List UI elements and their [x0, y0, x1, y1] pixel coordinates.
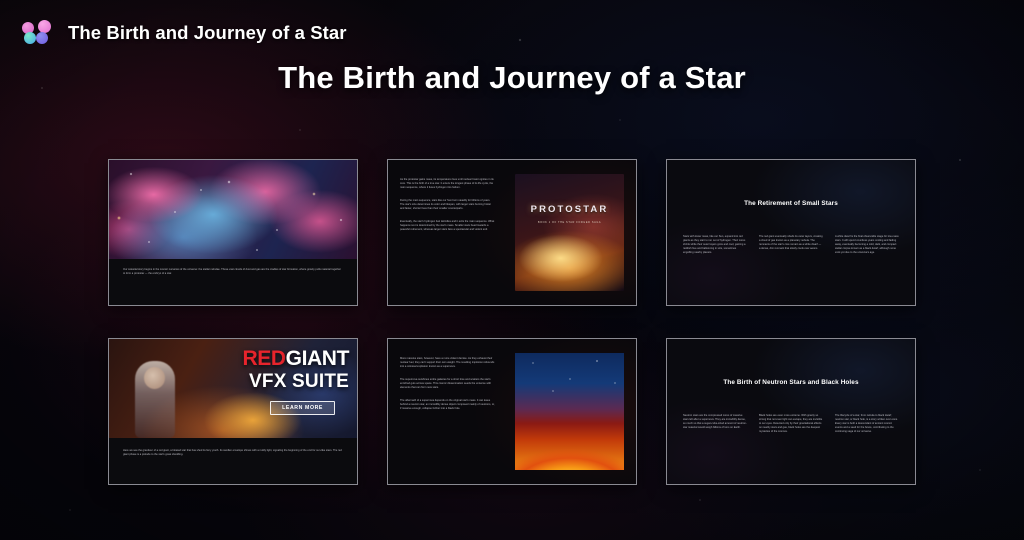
protostar-book-poster: PROTOSTAR BOOK 1 OF THE STAR FORGED SAGA — [515, 174, 624, 291]
paragraph: Eventually, the star's hydrogen fuel dwi… — [400, 220, 495, 232]
ad-headline-secondary: GIANT — [286, 347, 349, 370]
column-text: Neutron stars are the compressed cores o… — [683, 414, 747, 434]
ad-headline: REDGIANT — [243, 348, 349, 369]
paragraph: During the main sequence, stars like our… — [400, 199, 495, 211]
ad-figure-illustration — [135, 361, 175, 438]
slide-protostar[interactable]: As the protostar gains mass, its tempera… — [387, 159, 637, 306]
slide-columns: Stars with lower mass, like our Sun, exp… — [683, 235, 899, 255]
ad-headline-primary: RED — [243, 347, 286, 370]
page-title: The Birth and Journey of a Star — [0, 60, 1024, 96]
slide-title: The Birth of Neutron Stars and Black Hol… — [683, 379, 899, 386]
column-text: The lifecycle of a star, from nebula to … — [835, 414, 899, 434]
slide-supernova[interactable]: More massive stars, however, have a more… — [387, 338, 637, 485]
paragraph: The aftermath of a supernova depends on … — [400, 399, 495, 411]
slide-caption-text: Our celestial story begins in the cosmic… — [123, 268, 343, 276]
header-title: The Birth and Journey of a Star — [68, 22, 347, 44]
presentation-canvas: The Birth and Journey of a Star The Birt… — [0, 0, 1024, 540]
paragraph: The supernova outshines entire galaxies … — [400, 378, 495, 390]
slide-caption-text: Here we see the grandeur of a red giant,… — [123, 449, 343, 457]
slide-nebula-hero[interactable]: Our celestial story begins in the cosmic… — [108, 159, 358, 306]
poster-subtitle: BOOK 1 OF THE STAR FORGED SAGA — [515, 221, 624, 224]
slide-text-column: More massive stars, however, have a more… — [400, 353, 495, 470]
column-text: A white dwarf is the final observable st… — [835, 235, 899, 255]
column-text: Black holes are even more extreme. With … — [759, 414, 823, 434]
slide-caption-block: Here we see the grandeur of a red giant,… — [109, 438, 357, 484]
ad-subhead: VFX SUITE — [249, 372, 349, 391]
slide-columns: Neutron stars are the compressed cores o… — [683, 414, 899, 434]
paragraph: More massive stars, however, have a more… — [400, 357, 495, 369]
column-text: Stars with lower mass, like our Sun, exp… — [683, 235, 747, 255]
slide-red-giant-ad[interactable]: REDGIANT VFX SUITE LEARN MORE Here we se… — [108, 338, 358, 485]
stellar-nebula-photo — [109, 160, 357, 259]
column-text: The red giant eventually sheds its outer… — [759, 235, 823, 255]
slide-retirement-small-stars[interactable]: The Retirement of Small Stars Stars with… — [666, 159, 916, 306]
supernova-sun-surface-photo — [515, 353, 624, 470]
app-header: The Birth and Journey of a Star — [0, 0, 1024, 66]
learn-more-button[interactable]: LEARN MORE — [270, 401, 335, 415]
slide-caption-block: Our celestial story begins in the cosmic… — [109, 259, 357, 305]
slide-neutron-stars-black-holes[interactable]: The Birth of Neutron Stars and Black Hol… — [666, 338, 916, 485]
slide-text-column: As the protostar gains mass, its tempera… — [400, 174, 495, 291]
slide-title: The Retirement of Small Stars — [683, 200, 899, 207]
paragraph: As the protostar gains mass, its tempera… — [400, 178, 495, 190]
slide-grid: Our celestial story begins in the cosmic… — [108, 159, 916, 485]
red-giant-vfx-character-art: REDGIANT VFX SUITE LEARN MORE — [109, 339, 357, 438]
poster-title: PROTOSTAR — [515, 204, 624, 215]
four-dot-cluster-logo-icon — [22, 20, 54, 46]
